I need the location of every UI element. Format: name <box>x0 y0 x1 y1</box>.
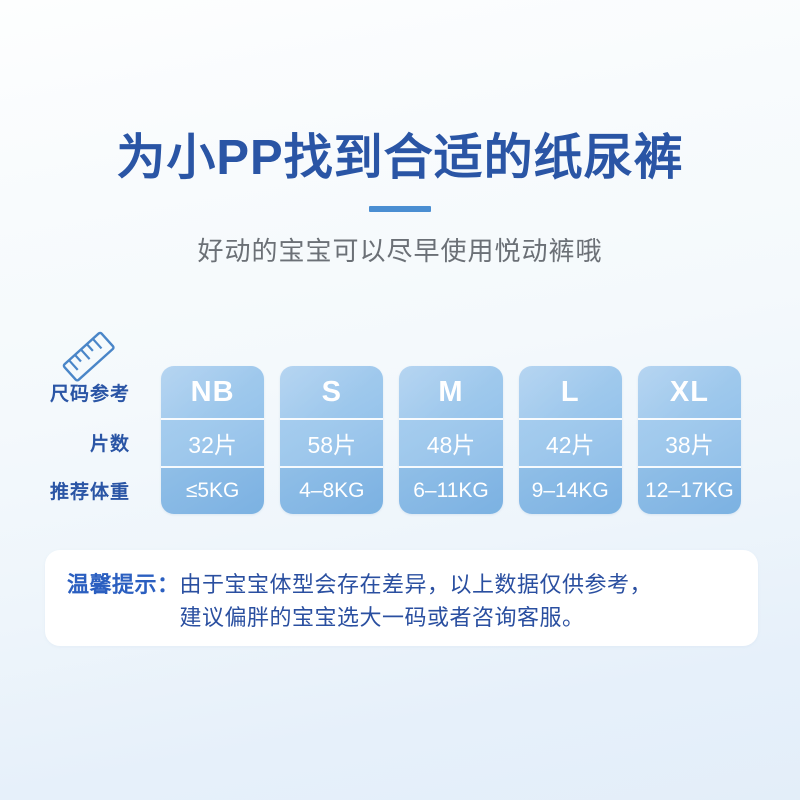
size-card-s-weight: 4–8KG <box>280 466 383 514</box>
size-card-xl[interactable]: XL 38片 12–17KG <box>638 366 741 514</box>
size-card-s[interactable]: S 58片 4–8KG <box>280 366 383 514</box>
tip-text: 由于宝宝体型会存在差异，以上数据仅供参考， 建议偏胖的宝宝选大一码或者咨询客服。 <box>180 568 736 634</box>
size-reference-table: 尺码参考 片数 推荐体重 NB 32片 ≤5KG S 58片 4–8KG M 4… <box>0 366 800 514</box>
row-label-size: 尺码参考 <box>0 366 140 418</box>
size-card-nb-size: NB <box>161 366 264 418</box>
size-card-nb[interactable]: NB 32片 ≤5KG <box>161 366 264 514</box>
divider-bar <box>369 206 431 212</box>
size-card-l-weight: 9–14KG <box>519 466 622 514</box>
page-header: 为小PP找到合适的纸尿裤 好动的宝宝可以尽早使用悦动裤哦 <box>0 130 800 269</box>
size-card-l-count: 42片 <box>519 418 622 466</box>
tip-box: 温馨提示： 由于宝宝体型会存在差异，以上数据仅供参考， 建议偏胖的宝宝选大一码或… <box>45 550 758 646</box>
size-card-m-size: M <box>399 366 502 418</box>
size-card-m[interactable]: M 48片 6–11KG <box>399 366 502 514</box>
size-card-list: NB 32片 ≤5KG S 58片 4–8KG M 48片 6–11KG L 4… <box>161 366 741 514</box>
size-card-m-weight: 6–11KG <box>399 466 502 514</box>
size-card-m-count: 48片 <box>399 418 502 466</box>
size-card-nb-weight: ≤5KG <box>161 466 264 514</box>
size-card-s-count: 58片 <box>280 418 383 466</box>
tip-text-line2: 建议偏胖的宝宝选大一码或者咨询客服。 <box>180 601 736 634</box>
tip-label: 温馨提示： <box>67 568 180 601</box>
table-row-labels: 尺码参考 片数 推荐体重 <box>0 366 140 514</box>
size-card-l-size: L <box>519 366 622 418</box>
tip-line: 温馨提示： 由于宝宝体型会存在差异，以上数据仅供参考， 建议偏胖的宝宝选大一码或… <box>67 568 736 634</box>
size-card-xl-size: XL <box>638 366 741 418</box>
size-card-s-size: S <box>280 366 383 418</box>
row-label-count: 片数 <box>0 418 140 466</box>
promo-page: 为小PP找到合适的纸尿裤 好动的宝宝可以尽早使用悦动裤哦 尺码参考 片数 推荐体… <box>0 0 800 800</box>
row-label-weight: 推荐体重 <box>0 466 140 514</box>
size-card-nb-count: 32片 <box>161 418 264 466</box>
size-card-xl-count: 38片 <box>638 418 741 466</box>
size-card-l[interactable]: L 42片 9–14KG <box>519 366 622 514</box>
title-divider <box>0 206 800 213</box>
page-subtitle: 好动的宝宝可以尽早使用悦动裤哦 <box>0 235 800 269</box>
page-title: 为小PP找到合适的纸尿裤 <box>0 130 800 188</box>
tip-text-line1: 由于宝宝体型会存在差异，以上数据仅供参考， <box>180 572 653 597</box>
size-card-xl-weight: 12–17KG <box>638 466 741 514</box>
